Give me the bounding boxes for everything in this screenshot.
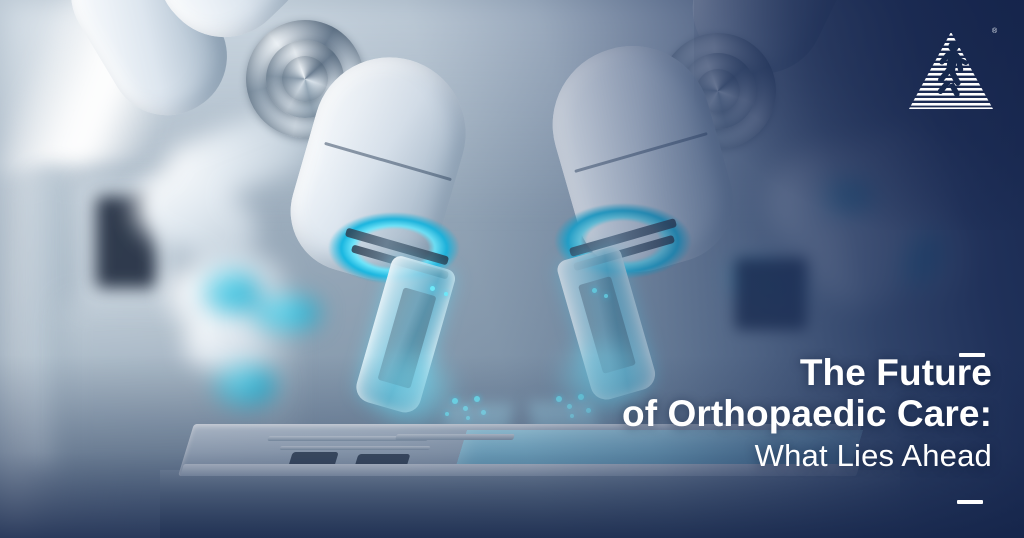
headline-line-1: The Future — [622, 352, 992, 393]
bottom-accent-dash — [957, 500, 983, 504]
aaos-logo-mark — [908, 30, 994, 111]
aaos-logo[interactable]: ® — [908, 30, 994, 111]
headline-block: The Future of Orthopaedic Care: What Lie… — [622, 352, 992, 478]
headline-subline: What Lies Ahead — [622, 434, 992, 478]
banner-image: ® The Future of Orthopaedic Care: What L… — [0, 0, 1024, 538]
headline-line-2: of Orthopaedic Care: — [622, 393, 992, 434]
registered-trademark-symbol: ® — [992, 28, 997, 35]
